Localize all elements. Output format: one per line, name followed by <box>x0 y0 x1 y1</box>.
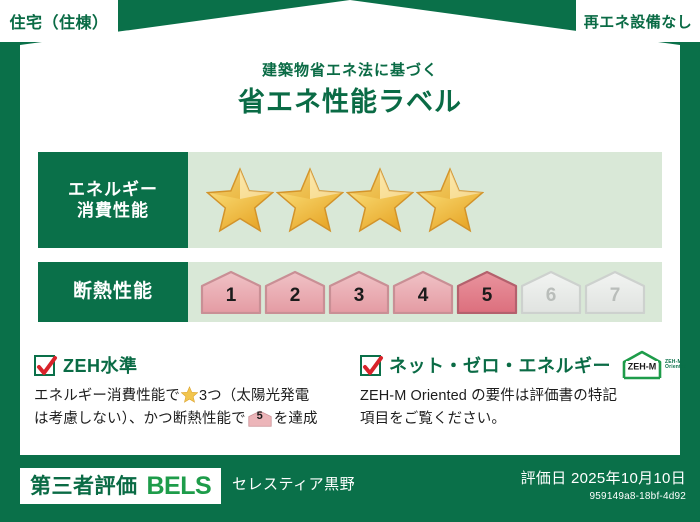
energy-performance-row: エネルギー 消費性能 <box>38 152 662 248</box>
inline-star-icon <box>181 386 198 403</box>
zeh-m-oriented-text: ZEH-M Oriented <box>665 360 687 371</box>
insulation-performance-row: 断熱性能 1234567 <box>38 262 662 322</box>
zeh-criteria-title: ZEH水準 <box>63 352 138 378</box>
label-subtitle: 建築物省エネ法に基づく <box>0 62 700 80</box>
zeh-m-house-icon: ZEH-M <box>621 350 663 380</box>
renewable-energy-tab-label: 再エネ設備なし <box>584 11 693 32</box>
energy-performance-label: エネルギー 消費性能 <box>38 152 188 248</box>
insulation-grade-scale: 1234567 <box>188 262 662 322</box>
net-zero-criteria-title: ネット・ゼロ・エネルギー <box>389 352 611 378</box>
check-icon <box>35 354 59 380</box>
bels-mark: BELS <box>147 474 212 499</box>
evaluation-info: 評価日 2025年10月10日 959149a8-18bf-4d92 <box>521 469 686 503</box>
insulation-grade-badge: 2 <box>264 270 326 314</box>
zeh-criteria-header: ZEH水準 <box>34 352 352 378</box>
page-title: 省エネ性能ラベル <box>0 86 700 118</box>
zeh-criteria-body: エネルギー消費性能で 3つ（太陽光発電 は考慮しない）、かつ断熱性能で 5 を達… <box>34 385 352 432</box>
inline-grade-badge: 5 <box>248 410 272 427</box>
label-heading: 建築物省エネ法に基づく 省エネ性能ラベル <box>0 62 700 118</box>
net-zero-body-line1: ZEH-M Oriented の要件は評価書の特記 <box>360 385 678 408</box>
bels-badge: 第三者評価 BELS <box>20 468 221 504</box>
check-icon <box>361 354 385 380</box>
evaluation-date: 評価日 2025年10月10日 <box>521 469 686 489</box>
label-footer: 第三者評価 BELS セレスティア黒野 評価日 2025年10月10日 9591… <box>0 455 700 522</box>
insulation-grade-value: 6 <box>546 286 557 314</box>
insulation-grade-badge: 5 <box>456 270 518 314</box>
insulation-grade-badge: 6 <box>520 270 582 314</box>
insulation-grade-value: 7 <box>610 286 621 314</box>
energy-star-rating <box>188 152 662 248</box>
energy-performance-label-line1: エネルギー <box>68 179 158 200</box>
energy-performance-label-line2: 消費性能 <box>77 200 149 221</box>
net-zero-criteria-block: ネット・ゼロ・エネルギー ZEH-M ZEH-M Oriented ZEH-M … <box>360 352 678 432</box>
zeh-m-oriented-line2: Oriented <box>665 365 687 370</box>
zeh-body-part2: は考慮しない）、かつ断熱性能で <box>34 411 246 427</box>
building-type-tab: 住宅（住棟） <box>0 0 118 42</box>
insulation-performance-label: 断熱性能 <box>38 262 188 322</box>
zeh-criteria-block: ZEH水準 エネルギー消費性能で 3つ（太陽光発電 は考慮しない）、かつ断熱性能… <box>34 352 352 432</box>
zeh-body-part1: エネルギー消費性能で <box>34 388 180 404</box>
insulation-grade-value: 3 <box>354 286 365 314</box>
star-icon <box>206 167 274 233</box>
third-party-evaluation-label: 第三者評価 <box>30 476 138 497</box>
insulation-performance-label-text: 断熱性能 <box>73 280 153 304</box>
zeh-checkbox[interactable] <box>34 355 55 376</box>
insulation-grade-value: 2 <box>290 286 301 314</box>
insulation-grade-value: 4 <box>418 286 429 314</box>
evaluation-id: 959149a8-18bf-4d92 <box>521 490 686 503</box>
inline-grade-value: 5 <box>248 410 272 427</box>
insulation-grade-value: 5 <box>482 286 493 314</box>
insulation-grade-value: 1 <box>226 286 237 314</box>
zeh-body-star-count: 3つ（太陽光発電 <box>199 388 309 404</box>
star-icon <box>276 167 344 233</box>
building-name: セレスティア黒野 <box>232 477 355 492</box>
zeh-m-logo: ZEH-M ZEH-M Oriented <box>621 350 687 380</box>
star-icon <box>346 167 414 233</box>
net-zero-criteria-body: ZEH-M Oriented の要件は評価書の特記 項目をご覧ください。 <box>360 385 678 432</box>
insulation-grade-badge: 7 <box>584 270 646 314</box>
net-zero-checkbox[interactable] <box>360 355 381 376</box>
insulation-grade-badge: 4 <box>392 270 454 314</box>
svg-text:ZEH-M: ZEH-M <box>628 362 657 372</box>
energy-performance-label: 住宅（住棟） 再エネ設備なし 建築物省エネ法に基づく 省エネ性能ラベル エネルギ… <box>0 0 700 522</box>
star-icon <box>416 167 484 233</box>
renewable-energy-tab: 再エネ設備なし <box>576 0 700 42</box>
net-zero-criteria-header: ネット・ゼロ・エネルギー ZEH-M ZEH-M Oriented <box>360 352 678 378</box>
insulation-grade-badge: 3 <box>328 270 390 314</box>
zeh-body-part3: を達成 <box>274 411 318 427</box>
net-zero-body-line2: 項目をご覧ください。 <box>360 408 678 431</box>
building-type-tab-label: 住宅（住棟） <box>9 9 108 33</box>
insulation-grade-badge: 1 <box>200 270 262 314</box>
